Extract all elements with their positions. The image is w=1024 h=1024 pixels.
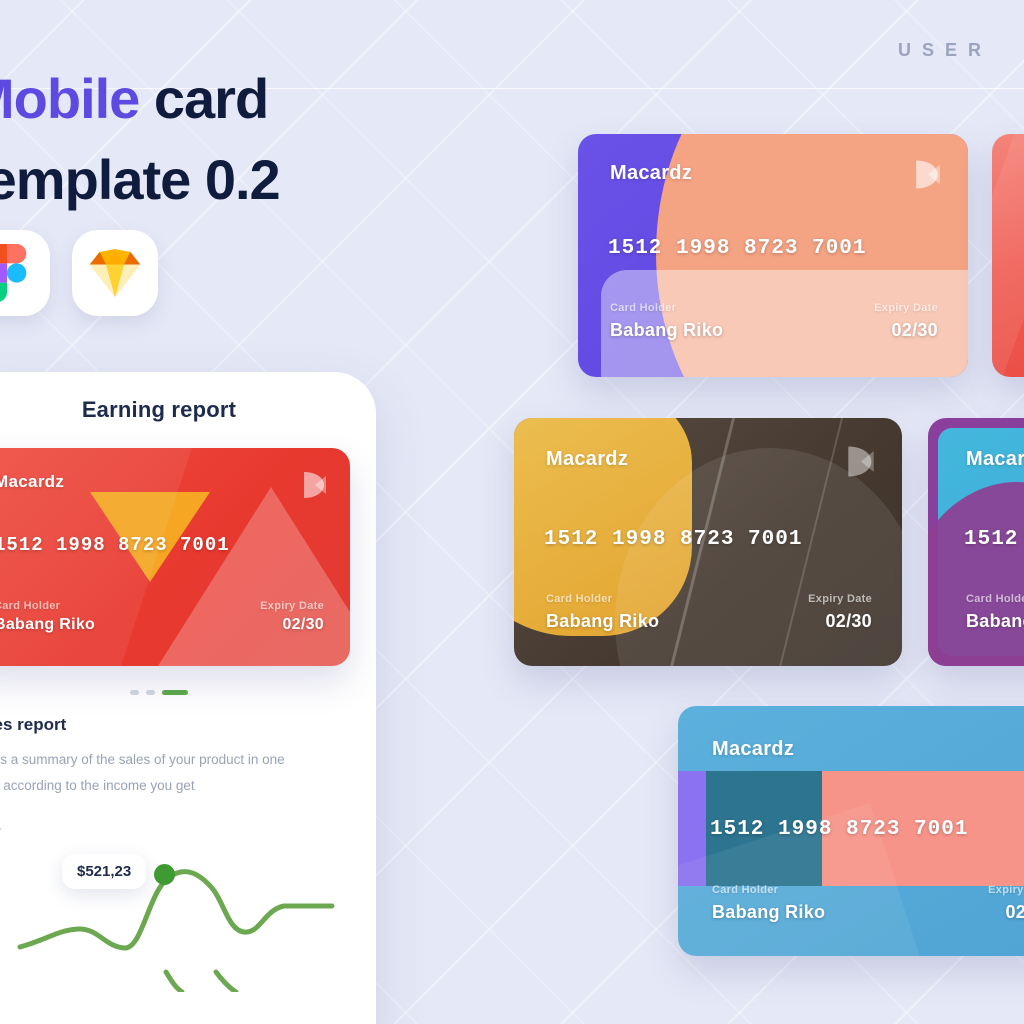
card-holder-label: Card Holder	[712, 884, 778, 896]
card-holder-label: Card Holder	[0, 600, 60, 612]
card-brand: Macardz	[610, 162, 692, 185]
card-expiry-value: 02/30	[1005, 902, 1024, 923]
card-content: Macardz 1512 1998 8723 7001 Card Holder …	[514, 418, 902, 666]
credit-card-purple[interactable]: Macardz 1512 1998 8723 7001 Card Holder …	[578, 134, 968, 377]
card-content: Macardz 1512 1998 8723 7001 Card Holder …	[0, 448, 350, 666]
card-brand: Macardz	[712, 738, 794, 761]
canvas: Mobile card template 0.2	[0, 0, 1024, 1024]
sales-report-heading: Sales report	[0, 715, 350, 735]
phone-mockup: ‹ Earning report Macardz 1512 1	[0, 372, 376, 1024]
sales-report-description: This is a summary of the sales of your p…	[0, 747, 298, 798]
credit-card-red[interactable]: Macardz 1512 1998 8723 7001 Card Holder …	[0, 448, 350, 666]
card-holder-label: Card Holder	[610, 302, 676, 314]
card-holder-name: Babang Riko	[610, 320, 723, 341]
card-expiry-value: 02/30	[282, 616, 324, 634]
page-title-accent: Mobile	[0, 67, 139, 130]
credit-card-cyan-partial[interactable]: Macardz 1512 1998 8723 7001 Card Holder …	[928, 418, 1024, 666]
sales-chart: $800+ $500 $100 $521,23	[0, 822, 350, 992]
page-title-line2: template 0.2	[0, 148, 280, 211]
y-axis-label-800: $800+	[0, 822, 2, 836]
page-title: Mobile card template 0.2	[0, 58, 428, 220]
app-icon-row	[0, 230, 158, 316]
phone-screen-title: Earning report	[82, 397, 236, 423]
figma-glyph	[0, 244, 27, 302]
phone-app-bar: ‹ Earning report	[0, 372, 376, 448]
phone-card-slot: Macardz 1512 1998 8723 7001 Card Holder …	[0, 448, 376, 666]
card-brand: Macardz	[966, 448, 1024, 471]
card-logo-icon	[914, 158, 942, 196]
credit-card-brown[interactable]: Macardz 1512 1998 8723 7001 Card Holder …	[514, 418, 902, 666]
credit-card-blue[interactable]: Macardz 1512 1998 8723 7001 Card Holder …	[678, 706, 1024, 956]
card-holder-name: Babang Riko	[546, 611, 659, 632]
card-brand: Macardz	[0, 472, 64, 492]
figma-icon[interactable]	[0, 230, 50, 316]
user-section-label: USER	[898, 40, 992, 61]
card-logo-icon	[846, 444, 876, 484]
card-holder-name: Babang Riko	[712, 902, 825, 923]
card-logo-icon	[302, 470, 328, 505]
card-expiry-label: Expiry Date	[260, 600, 324, 612]
card-expiry-label: Expiry Date	[988, 884, 1024, 896]
card-number: 1512 1998 8723 7001	[608, 237, 866, 260]
card-holder-name: Babang Riko	[966, 611, 1024, 632]
card-shape-sheen	[992, 134, 1024, 377]
card-holder-label: Card Holder	[546, 593, 612, 605]
card-number: 1512 1998 8723 7001	[0, 534, 230, 556]
page-title-rest: card	[139, 67, 268, 130]
card-expiry-value: 02/30	[825, 611, 872, 632]
card-holder-name: Babang Riko	[0, 616, 95, 634]
card-number: 1512 1998 8723 7001	[710, 818, 968, 841]
chart-line-svg	[16, 822, 336, 992]
sketch-icon[interactable]	[72, 230, 158, 316]
card-content: Macardz 1512 1998 8723 7001 Card Holder …	[578, 134, 968, 377]
chart-tooltip: $521,23	[62, 854, 146, 889]
card-expiry-value: 02/30	[891, 320, 938, 341]
sketch-glyph	[88, 248, 142, 298]
card-brand: Macardz	[546, 448, 628, 471]
pagination-dot-3-active[interactable]	[162, 690, 188, 695]
pagination-dot-1[interactable]	[130, 690, 139, 695]
card-number: 1512 1998 8723 7001	[544, 528, 802, 551]
card-content: Macardz 1512 1998 8723 7001 Card Holder …	[678, 706, 1024, 956]
credit-card-red-partial[interactable]	[992, 134, 1024, 377]
pagination-dot-2[interactable]	[146, 690, 155, 695]
sales-report-section: Sales report This is a summary of the sa…	[0, 695, 376, 992]
card-expiry-label: Expiry Date	[808, 593, 872, 605]
card-content: Macardz 1512 1998 8723 7001 Card Holder …	[928, 418, 1024, 666]
card-holder-label: Card Holder	[966, 593, 1024, 605]
card-number: 1512 1998 8723 7001	[964, 528, 1024, 551]
card-expiry-label: Expiry Date	[874, 302, 938, 314]
